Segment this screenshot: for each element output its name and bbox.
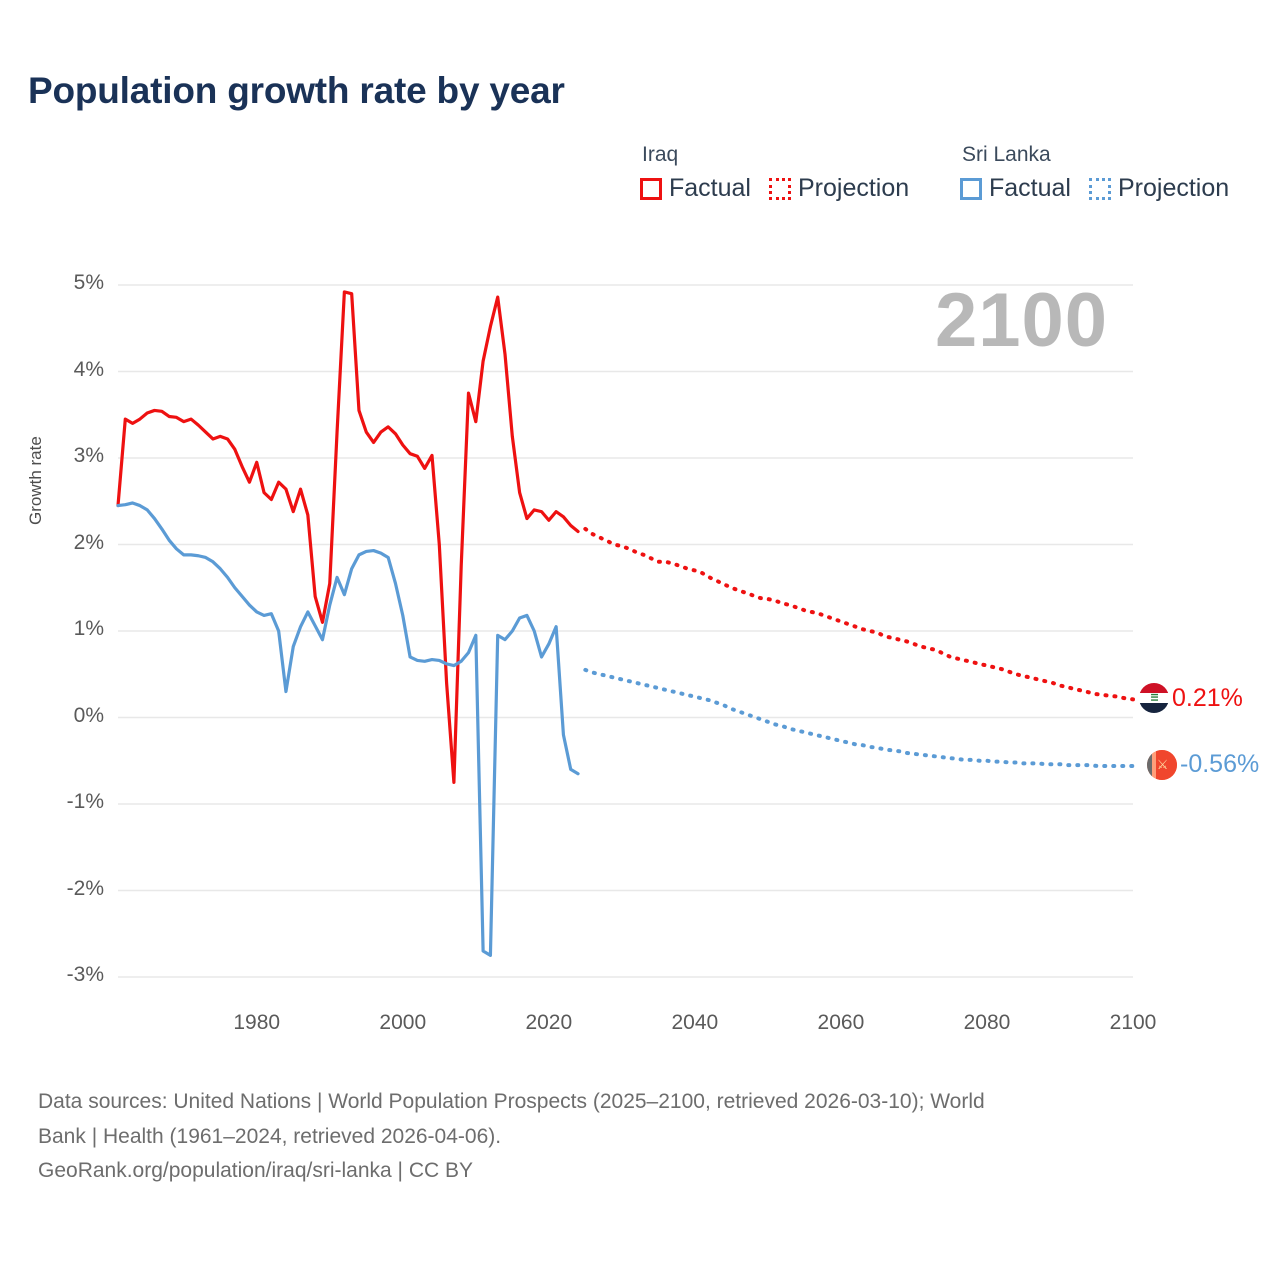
y-tick-label: -1%: [0, 790, 104, 814]
y-tick-label: 5%: [0, 271, 104, 295]
sri-lanka-flag-icon: ⚔: [1147, 750, 1177, 780]
footer-line-2: Bank | Health (1961–2024, retrieved 2026…: [38, 1120, 1238, 1155]
series-line-iraq-projection: [585, 529, 1133, 699]
y-tick-label: 0%: [0, 704, 104, 728]
y-tick-label: 1%: [0, 617, 104, 641]
series-line-sri-lanka-factual: [118, 503, 578, 955]
y-tick-label: -2%: [0, 877, 104, 901]
footer-line-3[interactable]: GeoRank.org/population/iraq/sri-lanka | …: [38, 1154, 1238, 1189]
x-tick-label: 2060: [781, 1011, 901, 1035]
x-tick-label: 2020: [489, 1011, 609, 1035]
y-tick-label: 3%: [0, 444, 104, 468]
x-tick-label: 2040: [635, 1011, 755, 1035]
end-label-iraq: ☰ 0.21%: [1139, 683, 1243, 713]
end-value-sri-lanka: -0.56%: [1180, 750, 1259, 779]
y-tick-label: -3%: [0, 963, 104, 987]
end-value-iraq: 0.21%: [1172, 684, 1243, 713]
footer-line-1: Data sources: United Nations | World Pop…: [38, 1085, 1238, 1120]
y-tick-label: 4%: [0, 358, 104, 382]
x-tick-label: 2100: [1073, 1011, 1193, 1035]
x-tick-label: 2000: [343, 1011, 463, 1035]
series-line-iraq-factual: [118, 292, 578, 782]
x-tick-label: 1980: [197, 1011, 317, 1035]
footer-sources: Data sources: United Nations | World Pop…: [38, 1085, 1238, 1189]
y-tick-label: 2%: [0, 531, 104, 555]
iraq-flag-icon: ☰: [1139, 683, 1169, 713]
end-label-sri-lanka: ⚔ -0.56%: [1147, 750, 1259, 780]
x-tick-label: 2080: [927, 1011, 1047, 1035]
